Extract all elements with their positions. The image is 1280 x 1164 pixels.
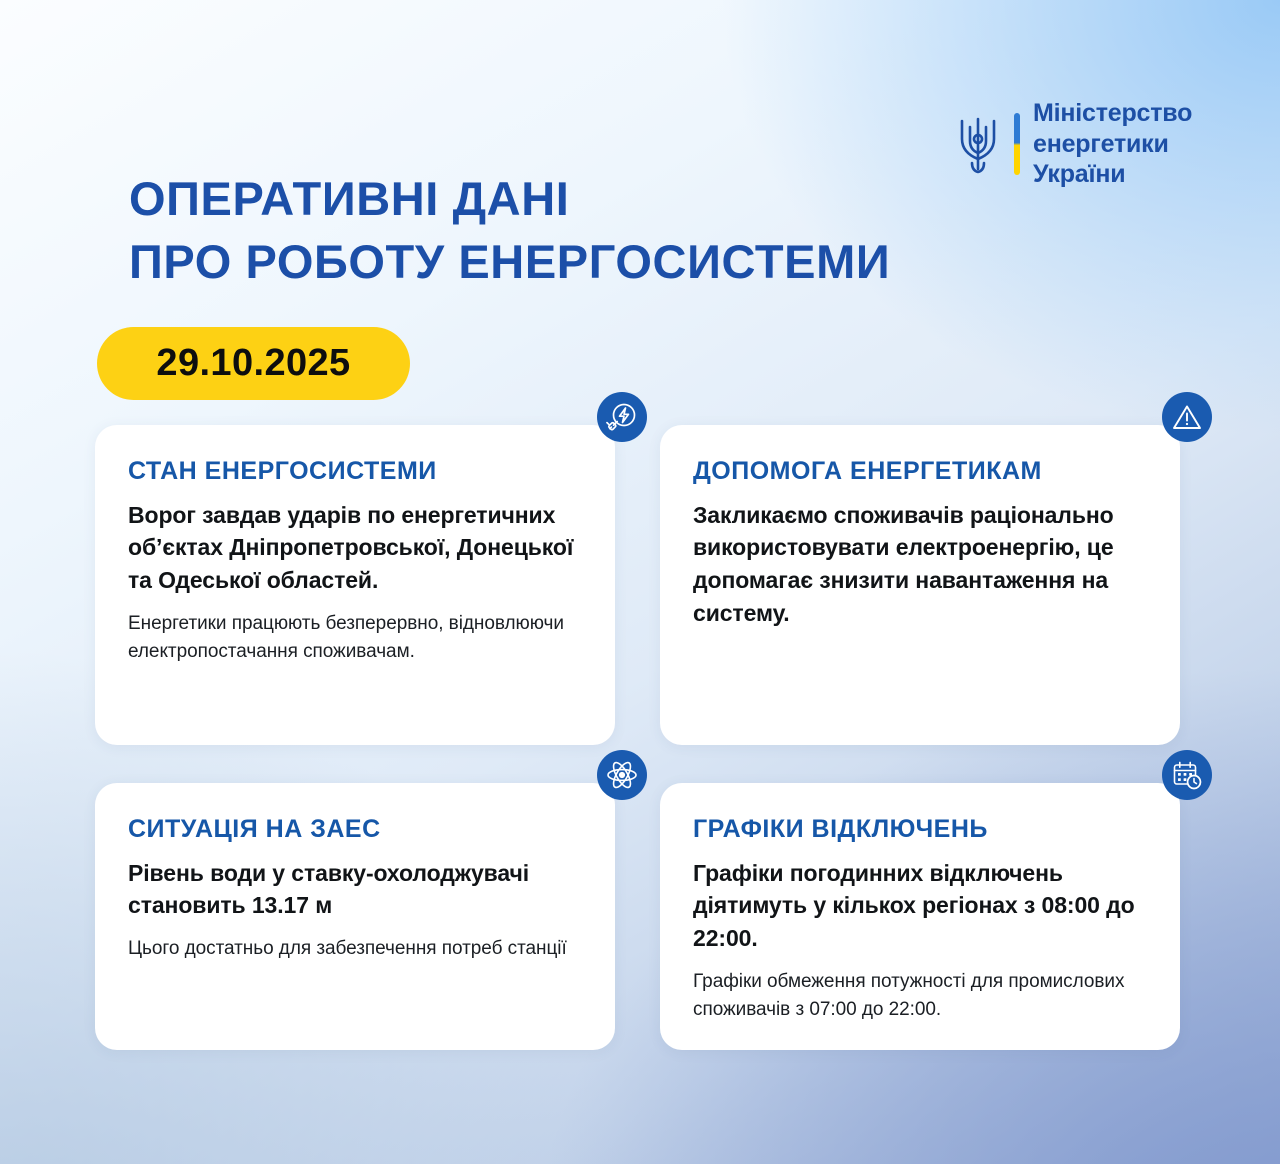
card-outage-schedules: ГРАФІКИ ВІДКЛЮЧЕНЬ Графіки погодинних ві… xyxy=(660,783,1180,1050)
card-4-lead: Графіки погодинних відключень діятимуть … xyxy=(693,857,1150,955)
ministry-name-line-3: України xyxy=(1033,159,1192,190)
cards-grid: СТАН ЕНЕРГОСИСТЕМИ Ворог завдав ударів п… xyxy=(95,425,1191,1050)
page-title-line-2: ПРО РОБОТУ ЕНЕРГОСИСТЕМИ xyxy=(129,231,890,294)
ministry-name-line-2: енергетики xyxy=(1033,129,1192,160)
card-3-sub: Цього достатньо для забезпечення потреб … xyxy=(128,935,585,963)
flag-divider xyxy=(1014,113,1020,175)
warning-triangle-icon xyxy=(1162,392,1212,442)
ministry-name: Міністерство енергетики України xyxy=(1033,98,1192,190)
card-4-heading: ГРАФІКИ ВІДКЛЮЧЕНЬ xyxy=(693,815,1150,844)
card-zaes-situation: СИТУАЦІЯ НА ЗАЕС Рівень води у ставку-ох… xyxy=(95,783,615,1050)
date-badge: 29.10.2025 xyxy=(97,327,410,400)
card-1-sub: Енергетики працюють безперервно, відновл… xyxy=(128,610,585,666)
ministry-logo: Міністерство енергетики України xyxy=(955,98,1192,190)
calendar-clock-icon xyxy=(1162,750,1212,800)
ministry-name-line-1: Міністерство xyxy=(1033,98,1192,129)
cards-row-top: СТАН ЕНЕРГОСИСТЕМИ Ворог завдав ударів п… xyxy=(95,425,1191,745)
cards-row-bottom: СИТУАЦІЯ НА ЗАЕС Рівень води у ставку-ох… xyxy=(95,783,1191,1050)
tryzub-icon xyxy=(955,113,1001,175)
page-title-line-1: ОПЕРАТИВНІ ДАНІ xyxy=(129,172,569,225)
card-1-lead: Ворог завдав ударів по енергетичних об’є… xyxy=(128,499,585,597)
card-2-heading: ДОПОМОГА ЕНЕРГЕТИКАМ xyxy=(693,457,1150,486)
card-1-heading: СТАН ЕНЕРГОСИСТЕМИ xyxy=(128,457,585,486)
card-energy-system-status: СТАН ЕНЕРГОСИСТЕМИ Ворог завдав ударів п… xyxy=(95,425,615,745)
atom-icon xyxy=(597,750,647,800)
card-4-sub: Графіки обмеження потужності для промисл… xyxy=(693,968,1150,1024)
card-2-lead: Закликаємо споживачів раціонально викори… xyxy=(693,499,1150,630)
card-help-energy-workers: ДОПОМОГА ЕНЕРГЕТИКАМ Закликаємо споживач… xyxy=(660,425,1180,745)
card-3-heading: СИТУАЦІЯ НА ЗАЕС xyxy=(128,815,585,844)
card-3-lead: Рівень води у ставку-охолоджувачі станов… xyxy=(128,857,585,922)
page-title: ОПЕРАТИВНІ ДАНІ ПРО РОБОТУ ЕНЕРГОСИСТЕМИ xyxy=(129,168,890,293)
energy-plug-bolt-icon xyxy=(597,392,647,442)
